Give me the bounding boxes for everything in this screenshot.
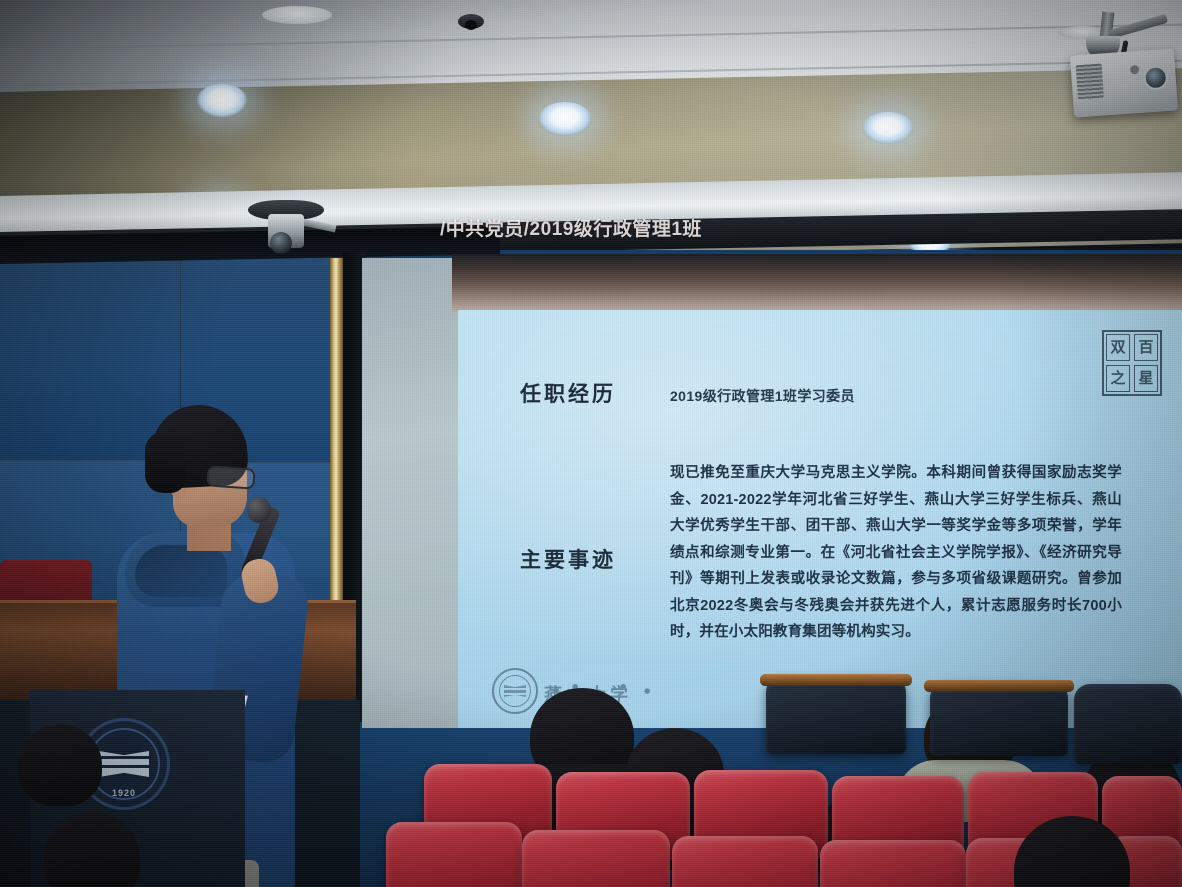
screen-top-strip — [452, 254, 1182, 312]
ceiling-vent — [262, 6, 332, 24]
presenter-glasses-icon — [206, 465, 255, 489]
row-value-achievements: 现已推免至重庆大学马克思主义学院。本科期间曾获得国家励志奖学金、2021-202… — [670, 460, 1122, 646]
seat-back — [766, 676, 906, 754]
seat-back — [672, 836, 818, 887]
slide-corner-seal-logo: 双 百 之 星 — [1102, 330, 1162, 396]
audience-head — [18, 724, 102, 806]
row-label-position: 任职经历 — [520, 378, 670, 408]
projector-vent — [1076, 64, 1104, 100]
seal-char: 星 — [1134, 365, 1158, 392]
slide-row-position: 任职经历 2019级行政管理1班学习委员 — [520, 378, 855, 408]
seal-char: 双 — [1106, 334, 1130, 361]
presenter-hair-side — [145, 431, 185, 493]
lecture-hall-photo: 双 百 之 星 任职经历 2019级行政管理1班学习委员 主要事迹 现已推免至重… — [0, 0, 1182, 887]
wall-camera-lens-icon — [270, 232, 292, 254]
presenter-hood-shadow — [135, 545, 227, 597]
ceiling-downlight — [862, 112, 914, 144]
row-value-position: 2019级行政管理1班学习委员 — [670, 386, 855, 406]
seat-back — [820, 840, 966, 887]
slide-header-banner-text: /中共党员/2019级行政管理1班 — [440, 214, 1000, 244]
projection-screen: 双 百 之 星 任职经历 2019级行政管理1班学习委员 主要事迹 现已推免至重… — [362, 258, 1182, 728]
seat-wood-trim — [924, 680, 1074, 692]
ceiling-projector — [1070, 48, 1178, 117]
ceiling-dome-camera-icon — [458, 14, 484, 29]
slide-row-achievements: 主要事迹 现已推免至重庆大学马克思主义学院。本科期间曾获得国家励志奖学金、202… — [520, 460, 1122, 646]
seal-char: 百 — [1134, 334, 1158, 361]
projector-knob — [1130, 65, 1140, 75]
ceiling-downlight — [196, 84, 248, 118]
ceiling-downlight — [538, 102, 592, 136]
audience-head — [44, 812, 140, 887]
row-label-achievements: 主要事迹 — [520, 460, 670, 646]
seat-back — [386, 822, 522, 887]
seat-wood-trim — [760, 674, 912, 686]
seat-back — [930, 682, 1068, 756]
seat-back — [1074, 684, 1182, 764]
projector-lens-icon — [1143, 65, 1169, 91]
microphone-head-icon — [247, 497, 271, 523]
audience-seating — [0, 660, 1182, 887]
seal-char: 之 — [1106, 365, 1130, 392]
seat-back — [522, 830, 670, 887]
